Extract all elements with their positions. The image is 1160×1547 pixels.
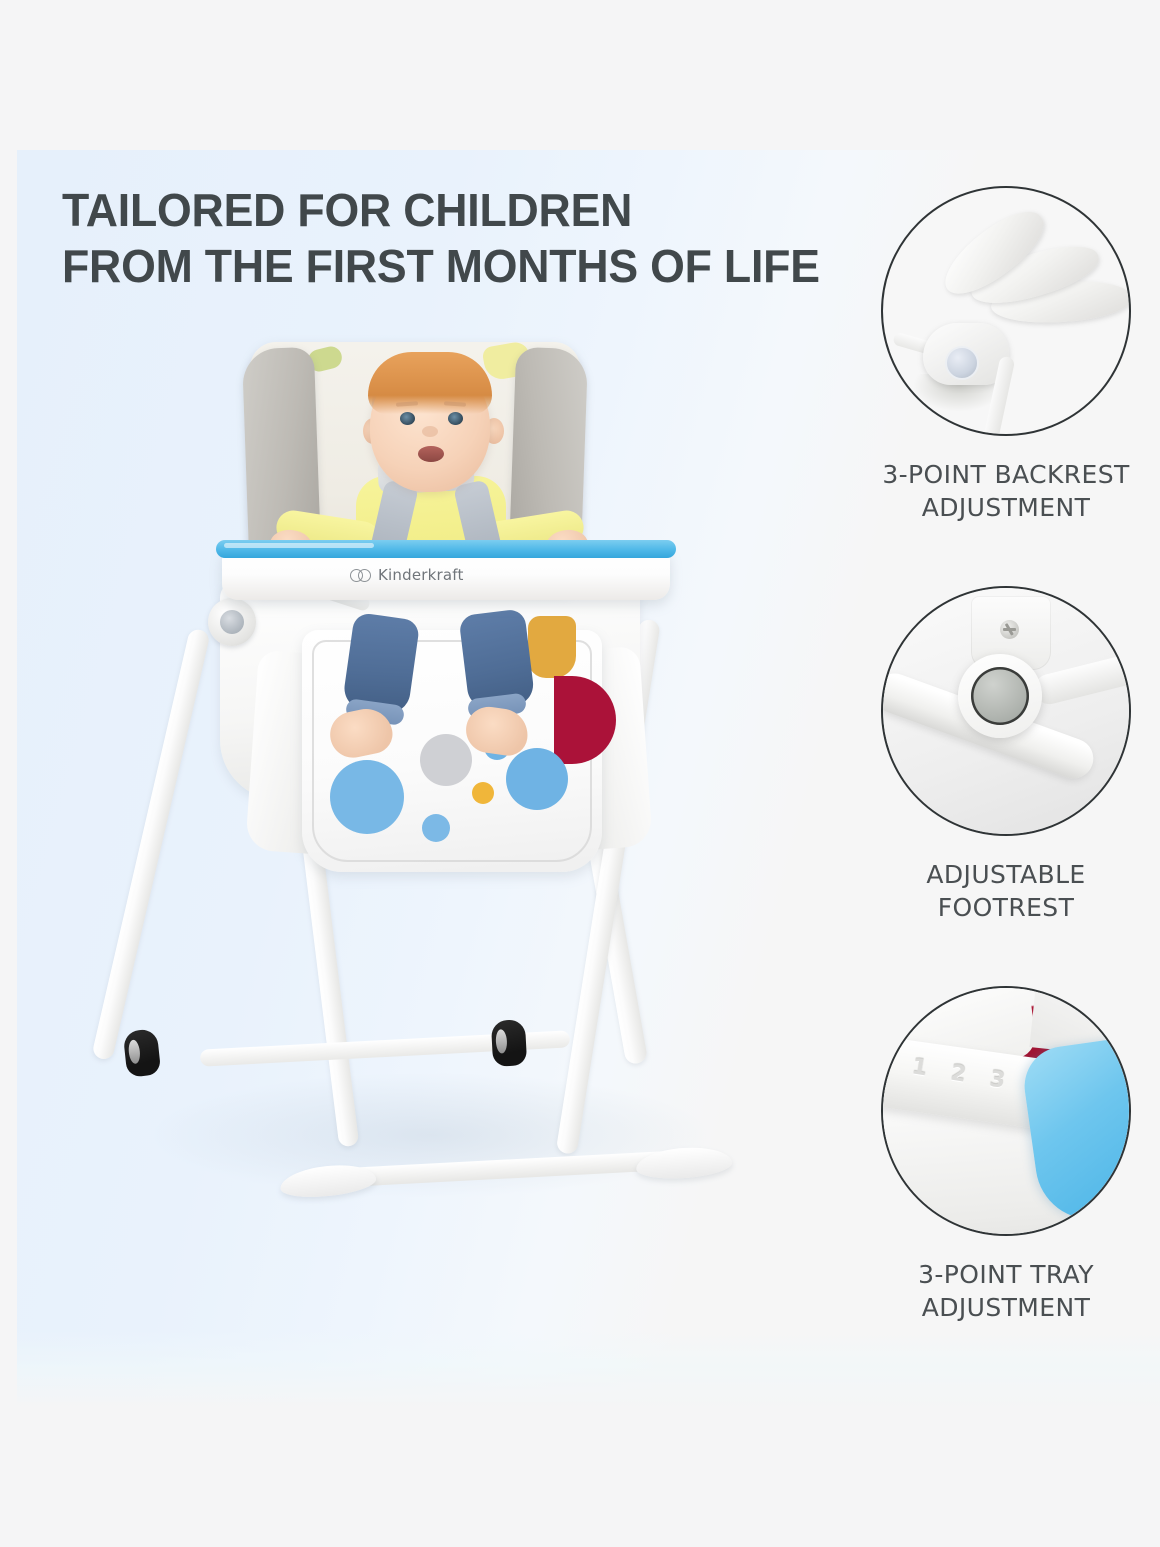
pad-blob-grey bbox=[420, 734, 472, 786]
baby-eye-right bbox=[448, 412, 463, 425]
frame-leg-back-left bbox=[91, 628, 210, 1061]
feature-tray-photo: 1 2 3 bbox=[881, 986, 1131, 1236]
feature-backrest: 3-POINT BACKREST ADJUSTMENT bbox=[860, 186, 1152, 586]
recline-hub-joint bbox=[208, 598, 256, 646]
feature-footrest: ADJUSTABLE FOOTREST bbox=[860, 586, 1152, 986]
baby-mouth bbox=[418, 446, 444, 462]
baby-hair bbox=[368, 352, 492, 414]
footrest-adjust-button-icon bbox=[971, 667, 1029, 725]
brand-name: Kinderkraft bbox=[378, 566, 464, 584]
pad-blob-blue-large bbox=[330, 760, 404, 834]
tray-number-3: 3 bbox=[988, 1067, 1007, 1094]
brand-logo: Kinderkraft bbox=[350, 566, 464, 584]
pad-blob-blue-medium bbox=[506, 748, 568, 810]
backrest-pivot-knob-icon bbox=[945, 346, 979, 380]
product-high-chair-image: Kinderkraft bbox=[80, 330, 780, 1270]
wheel-back-left bbox=[123, 1028, 162, 1077]
feature-footrest-caption: ADJUSTABLE FOOTREST bbox=[860, 858, 1152, 924]
screw-icon bbox=[1000, 620, 1019, 639]
tray-number-2: 2 bbox=[949, 1061, 968, 1088]
backrest-inset-art bbox=[883, 188, 1129, 434]
wheel-back-right bbox=[491, 1019, 527, 1067]
pad-blob-amber-large bbox=[528, 616, 576, 678]
baby-nose bbox=[422, 426, 438, 437]
feature-footrest-photo bbox=[881, 586, 1131, 836]
tray-inset-art: 1 2 3 bbox=[883, 988, 1129, 1234]
footrest-inset-art bbox=[883, 588, 1129, 834]
page-headline: TAILORED FOR CHILDREN FROM THE FIRST MON… bbox=[62, 182, 838, 294]
pad-blob-yellow bbox=[472, 782, 494, 804]
feature-backrest-caption: 3-POINT BACKREST ADJUSTMENT bbox=[860, 458, 1152, 524]
feature-tray: 1 2 3 3-POINT TRAY ADJUSTMENT bbox=[860, 986, 1152, 1386]
feature-list: 3-POINT BACKREST ADJUSTMENT ADJUSTABLE F… bbox=[860, 186, 1152, 1386]
pad-blob-blue-tiny bbox=[422, 814, 450, 842]
baby-eye-left bbox=[400, 412, 415, 425]
feature-tray-caption: 3-POINT TRAY ADJUSTMENT bbox=[860, 1258, 1152, 1324]
tray-edge-highlight bbox=[224, 543, 374, 548]
infographic-page: TAILORED FOR CHILDREN FROM THE FIRST MON… bbox=[0, 0, 1160, 1547]
feature-backrest-photo bbox=[881, 186, 1131, 436]
kinderkraft-monogram-icon bbox=[350, 569, 371, 582]
tray-number-1: 1 bbox=[910, 1054, 929, 1081]
